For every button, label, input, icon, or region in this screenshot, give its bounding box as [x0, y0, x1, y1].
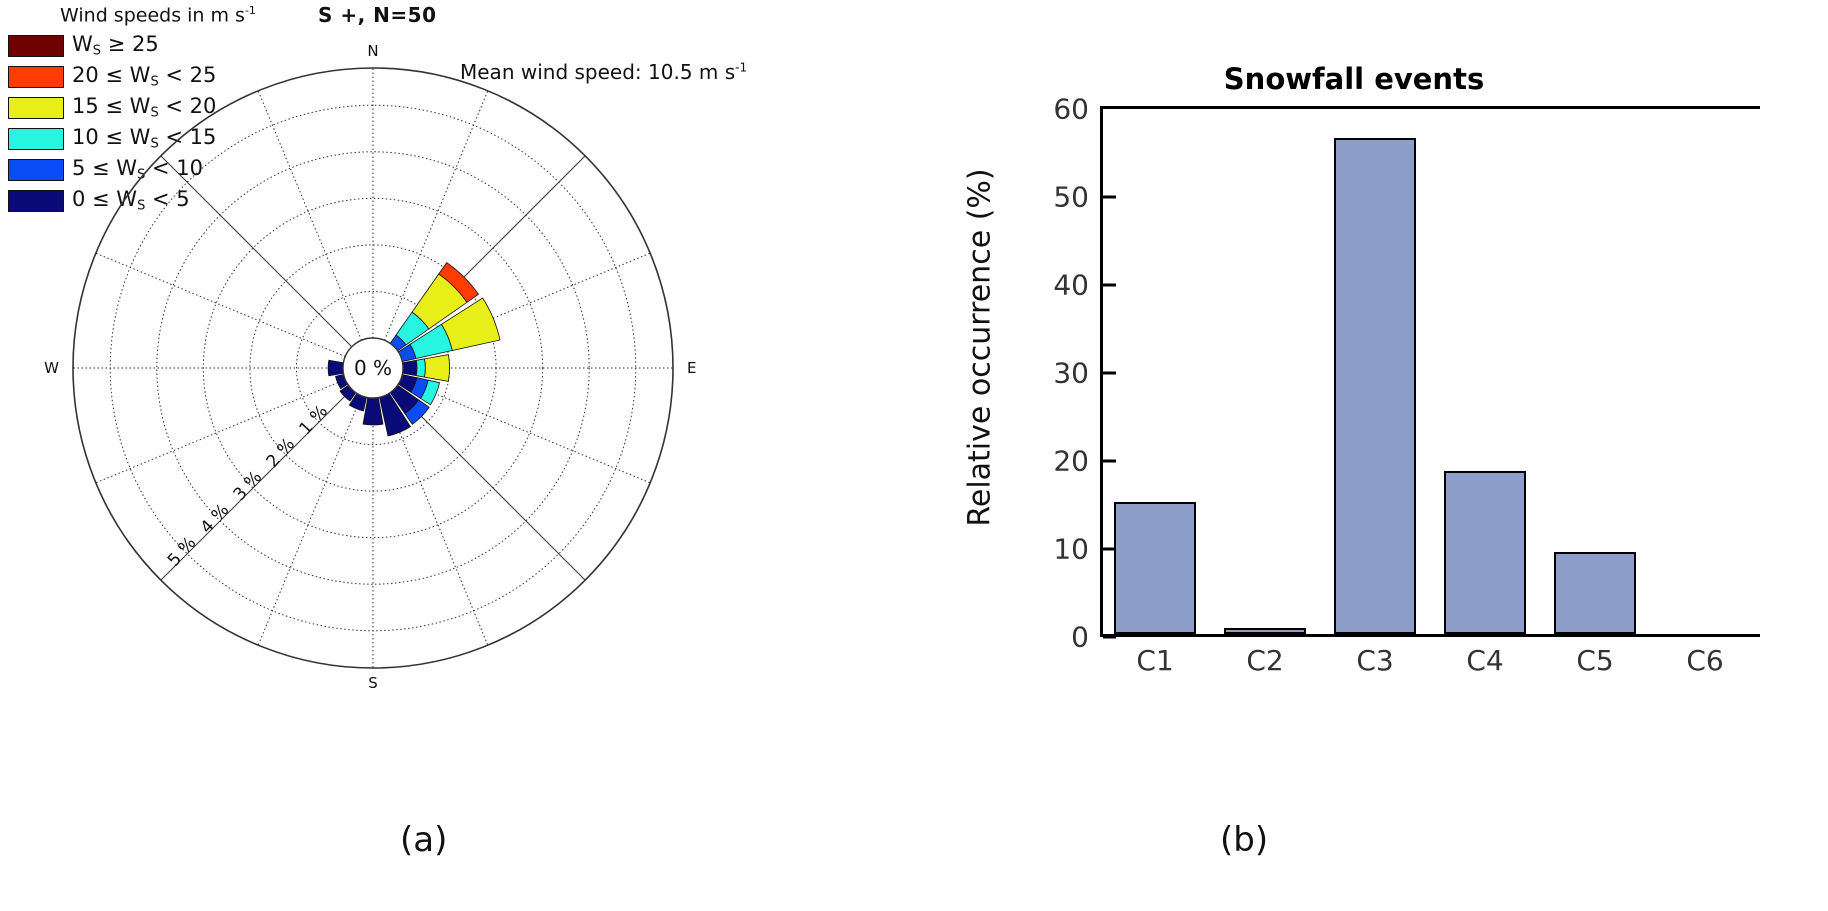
windrose-ring-label: 1 % — [295, 401, 332, 438]
windrose-compass-label: W — [44, 359, 59, 377]
x-axis-tick-label: C6 — [1650, 644, 1760, 677]
legend-title-text: Wind speeds in m s — [60, 4, 245, 26]
windrose-ring-label: 5 % — [164, 533, 201, 570]
bar-slot — [1100, 106, 1210, 634]
bar — [1114, 502, 1195, 634]
x-axis-tick-label: C2 — [1210, 644, 1320, 677]
x-axis-tick-labels: C1C2C3C4C5C6 — [1100, 644, 1760, 677]
windrose-spoke — [161, 156, 352, 347]
windrose-compass-label: E — [687, 359, 696, 377]
bar — [1444, 471, 1525, 634]
bar-slot — [1650, 106, 1760, 634]
windrose-petal-segment — [416, 359, 425, 377]
windrose-ring-label: 2 % — [263, 434, 300, 471]
windrose-center-label: 0 % — [354, 356, 392, 380]
windrose-petal-segment — [425, 355, 450, 382]
x-axis-tick-label: C4 — [1430, 644, 1540, 677]
chart-title: Snowfall events — [920, 62, 1788, 96]
windrose-compass-label: S — [368, 674, 378, 692]
bar — [1334, 138, 1415, 634]
bar-series — [1100, 106, 1760, 634]
y-axis-tick-label: 60 — [1053, 93, 1103, 126]
windrose-spoke — [384, 396, 487, 645]
windrose-plot: 0 % NESW1 %2 %3 %4 %5 % — [28, 28, 738, 718]
bar-slot — [1430, 106, 1540, 634]
x-axis-line — [1100, 634, 1760, 637]
bar-slot — [1210, 106, 1320, 634]
y-axis-tick-label: 10 — [1053, 533, 1103, 566]
y-axis-tick-label: 20 — [1053, 445, 1103, 478]
bar-slot — [1540, 106, 1650, 634]
x-axis-tick-label: C5 — [1540, 644, 1650, 677]
windrose-spoke — [96, 253, 345, 356]
y-axis-tick-label: 30 — [1053, 357, 1103, 390]
y-axis-tick-label: 50 — [1053, 181, 1103, 214]
windrose-petal-segment — [328, 360, 343, 376]
windrose-title: S +, N=50 — [318, 3, 437, 27]
panel-b-barchart: Snowfall events Relative occurrence (%) … — [920, 0, 1828, 911]
legend-title-exponent: -1 — [245, 4, 256, 17]
x-axis-tick-label: C3 — [1320, 644, 1430, 677]
y-axis-tick-label: 0 — [1071, 621, 1103, 654]
windrose-spoke — [258, 91, 361, 340]
windrose-svg: 0 % NESW1 %2 %3 %4 %5 % — [28, 28, 738, 718]
windrose-spoke — [394, 389, 585, 580]
panel-a-windrose: Wind speeds in m s-1 WS ≥ 2520 ≤ WS < 25… — [0, 0, 920, 911]
figure-root: Wind speeds in m s-1 WS ≥ 2520 ≤ WS < 25… — [0, 0, 1828, 911]
y-axis-tick-label: 40 — [1053, 269, 1103, 302]
windrose-compass-label: N — [367, 42, 378, 60]
panel-a-caption: (a) — [400, 820, 447, 860]
windrose-ring-label: 4 % — [197, 500, 234, 537]
legend-title: Wind speeds in m s-1 — [60, 4, 298, 26]
bar — [1554, 552, 1635, 634]
windrose-center-hub: 0 % — [343, 338, 403, 398]
windrose-spoke — [401, 379, 650, 482]
bar-slot — [1320, 106, 1430, 634]
x-axis-tick-label: C1 — [1100, 644, 1210, 677]
windrose-ring-label: 3 % — [230, 467, 267, 504]
panel-b-caption: (b) — [1220, 820, 1268, 860]
y-axis-label: Relative occurrence (%) — [963, 88, 998, 608]
windrose-petal-segment — [363, 398, 383, 425]
bar — [1224, 628, 1305, 634]
windrose-petal-segment — [403, 360, 417, 375]
